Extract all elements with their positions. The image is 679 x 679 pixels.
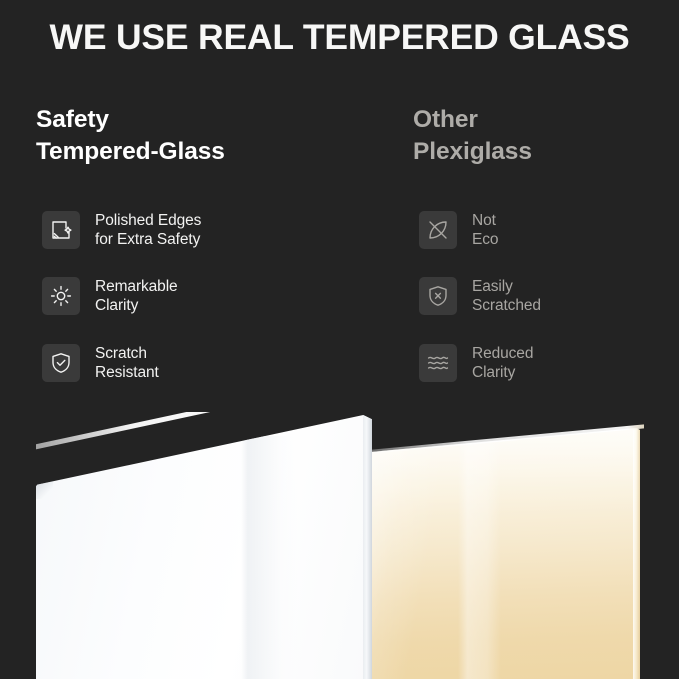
column-title-safety: Safety Tempered-Glass — [36, 104, 336, 168]
column-title-line2: Tempered-Glass — [36, 136, 336, 168]
feature-line2: Eco — [472, 230, 498, 249]
feature-row-scratch-resistant: Scratch Resistant — [42, 341, 159, 385]
feature-line2: Clarity — [472, 363, 533, 382]
shield-check-icon — [42, 344, 80, 382]
feature-line1: Polished Edges — [95, 211, 201, 230]
product-photo — [0, 404, 679, 679]
column-safety-tempered-glass: Safety Tempered-Glass Polished Edges — [36, 104, 336, 168]
sun-clarity-icon — [42, 277, 80, 315]
feature-line2: Clarity — [95, 296, 178, 315]
column-other-plexiglass: Other Plexiglass Not Eco — [413, 104, 679, 168]
feature-line2: for Extra Safety — [95, 230, 201, 249]
feature-line2: Scratched — [472, 296, 541, 315]
feature-line1: Remarkable — [95, 277, 178, 296]
comparison-columns: Safety Tempered-Glass Polished Edges — [0, 104, 679, 404]
feature-row-polished-edges: Polished Edges for Extra Safety — [42, 208, 201, 252]
column-title-line1: Safety — [36, 104, 336, 136]
feature-label-polished-edges: Polished Edges for Extra Safety — [95, 211, 201, 249]
plexiglass-panel-image — [368, 428, 640, 679]
plexiglass-reflection — [458, 443, 502, 679]
wavy-lines-icon — [419, 344, 457, 382]
crossed-leaf-icon — [419, 211, 457, 249]
column-title-line2: Plexiglass — [413, 136, 679, 168]
feature-row-reduced-clarity: Reduced Clarity — [419, 341, 533, 385]
feature-line1: Easily — [472, 277, 541, 296]
page-title: WE USE REAL TEMPERED GLASS — [0, 18, 679, 57]
plexiglass-right-edge — [633, 428, 640, 679]
feature-line2: Resistant — [95, 363, 159, 382]
product-comparison-infographic: WE USE REAL TEMPERED GLASS Safety Temper… — [0, 0, 679, 679]
tempered-glass-polished-corner — [35, 481, 53, 499]
feature-row-easily-scratched: Easily Scratched — [419, 274, 541, 318]
feature-row-remarkable-clarity: Remarkable Clarity — [42, 274, 178, 318]
shield-x-icon — [419, 277, 457, 315]
tempered-glass-bevel — [36, 415, 372, 679]
tempered-glass-reflection — [241, 436, 298, 679]
column-title-other: Other Plexiglass — [413, 104, 679, 168]
feature-label-remarkable-clarity: Remarkable Clarity — [95, 277, 178, 315]
polished-edge-icon — [42, 211, 80, 249]
column-title-line1: Other — [413, 104, 679, 136]
tempered-glass-right-edge — [363, 415, 372, 679]
feature-label-scratch-resistant: Scratch Resistant — [95, 344, 159, 382]
plexiglass-top-glow — [368, 428, 640, 515]
feature-label-not-eco: Not Eco — [472, 211, 498, 249]
tempered-glass-panel-image — [36, 415, 372, 679]
feature-line1: Scratch — [95, 344, 159, 363]
feature-row-not-eco: Not Eco — [419, 208, 498, 252]
feature-label-reduced-clarity: Reduced Clarity — [472, 344, 533, 382]
feature-label-easily-scratched: Easily Scratched — [472, 277, 541, 315]
feature-line1: Reduced — [472, 344, 533, 363]
feature-line1: Not — [472, 211, 498, 230]
